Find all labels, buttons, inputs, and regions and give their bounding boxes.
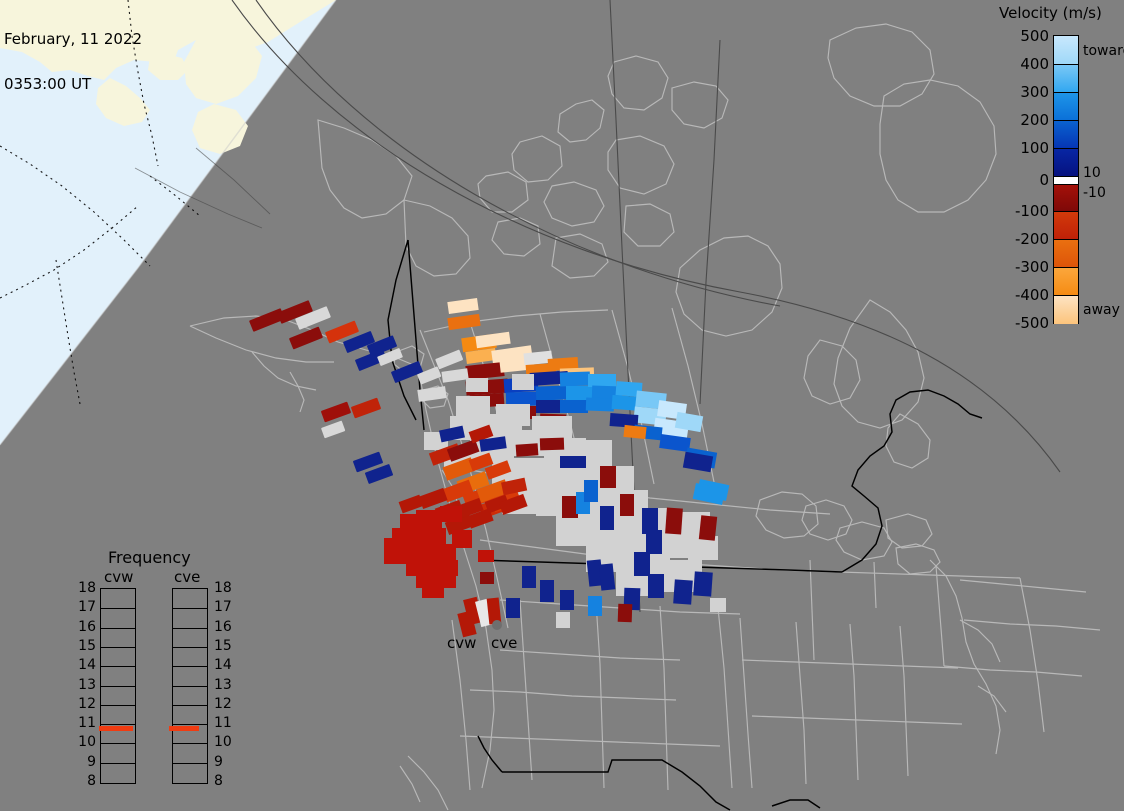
frequency-tick-right-17: 17 [214,599,234,615]
frequency-gridline [101,724,135,725]
velocity-band-4 [1054,148,1078,177]
velocity-note-negative-threshold: -10 [1083,185,1106,201]
velocity-tick-500: 500 [1020,27,1049,45]
frequency-tick-left-8: 8 [78,773,96,789]
frequency-gridline [173,647,207,648]
frequency-tick-right-14: 14 [214,657,234,673]
timestamp: February, 11 2022 0353:00 UT [4,2,142,122]
velocity-colorbar-title: Velocity (m/s) [999,4,1102,22]
frequency-gridline [101,743,135,744]
frequency-column-header-cve: cve [174,568,200,586]
frequency-gridline [173,686,207,687]
velocity-band-9 [1054,295,1078,324]
frequency-bar-cve [172,588,208,784]
frequency-gridline [173,705,207,706]
frequency-tick-left-12: 12 [78,696,96,712]
velocity-colorbar-panel: Velocity (m/s) 5004003002001000-100-200-… [985,2,1124,332]
frequency-gridline [173,743,207,744]
frequency-tick-left-13: 13 [78,677,96,693]
velocity-note-toward: toward [1083,43,1124,59]
velocity-cells [249,298,729,637]
frequency-tick-left-9: 9 [78,754,96,770]
velocity-band-2 [1054,92,1078,121]
frequency-marker-cve [169,726,199,731]
timestamp-date: February, 11 2022 [4,32,142,47]
frequency-tick-right-15: 15 [214,638,234,654]
velocity-band-0 [1054,36,1078,64]
frequency-gridline [101,628,135,629]
frequency-tick-right-10: 10 [214,734,234,750]
frequency-gridline [173,628,207,629]
frequency-gridline [101,763,135,764]
velocity-note-positive-threshold: 10 [1083,165,1101,181]
velocity-band-5 [1054,183,1078,212]
frequency-tick-left-18: 18 [78,580,96,596]
velocity-band-3 [1054,120,1078,149]
frequency-tick-right-9: 9 [214,754,234,770]
velocity-tick-300: 300 [1020,83,1049,101]
velocity-zero-band [1054,176,1078,185]
velocity-tick-400: 400 [1020,55,1049,73]
frequency-gridline [101,666,135,667]
frequency-gridline [173,608,207,609]
frequency-gridline [173,666,207,667]
frequency-tick-right-16: 16 [214,619,234,635]
frequency-legend-panel: Frequency cvw cve 1818171716161515141413… [90,548,242,788]
radar-site-label-cve: cve [491,634,517,652]
frequency-tick-left-17: 17 [78,599,96,615]
velocity-tick--100: -100 [1015,202,1049,220]
frequency-tick-right-18: 18 [214,580,234,596]
frequency-tick-left-15: 15 [78,638,96,654]
velocity-tick--500: -500 [1015,314,1049,332]
timestamp-time: 0353:00 UT [4,77,142,92]
velocity-band-6 [1054,211,1078,240]
velocity-tick--200: -200 [1015,230,1049,248]
frequency-tick-right-13: 13 [214,677,234,693]
radar-site-label-cvw: cvw [447,634,476,652]
frequency-bar-cvw [100,588,136,784]
frequency-tick-left-10: 10 [78,734,96,750]
radar-map-view: February, 11 2022 0353:00 UT Velocity (m… [0,0,1124,811]
frequency-gridline [101,686,135,687]
frequency-tick-left-14: 14 [78,657,96,673]
velocity-band-7 [1054,239,1078,268]
velocity-band-8 [1054,267,1078,296]
velocity-colorbar-ticks: 5004003002001000-100-200-300-400-500 [985,35,1049,324]
velocity-tick-200: 200 [1020,111,1049,129]
frequency-legend-title: Frequency [108,548,191,567]
frequency-tick-right-12: 12 [214,696,234,712]
velocity-tick--400: -400 [1015,286,1049,304]
frequency-gridline [101,647,135,648]
frequency-gridline [101,608,135,609]
frequency-tick-left-16: 16 [78,619,96,635]
frequency-gridline [173,763,207,764]
frequency-marker-cvw [99,726,133,731]
radar-site-dot [492,620,502,630]
frequency-tick-right-8: 8 [214,773,234,789]
frequency-tick-left-11: 11 [78,715,96,731]
velocity-colorbar [1053,35,1079,324]
velocity-colorbar-notes: toward10-10away [1083,35,1124,324]
frequency-tick-right-11: 11 [214,715,234,731]
velocity-band-1 [1054,64,1078,93]
frequency-gridline [173,724,207,725]
frequency-gridline [101,705,135,706]
velocity-tick--300: -300 [1015,258,1049,276]
velocity-tick-0: 0 [1039,171,1049,189]
frequency-column-header-cvw: cvw [104,568,133,586]
velocity-note-away: away [1083,302,1120,318]
velocity-tick-100: 100 [1020,139,1049,157]
